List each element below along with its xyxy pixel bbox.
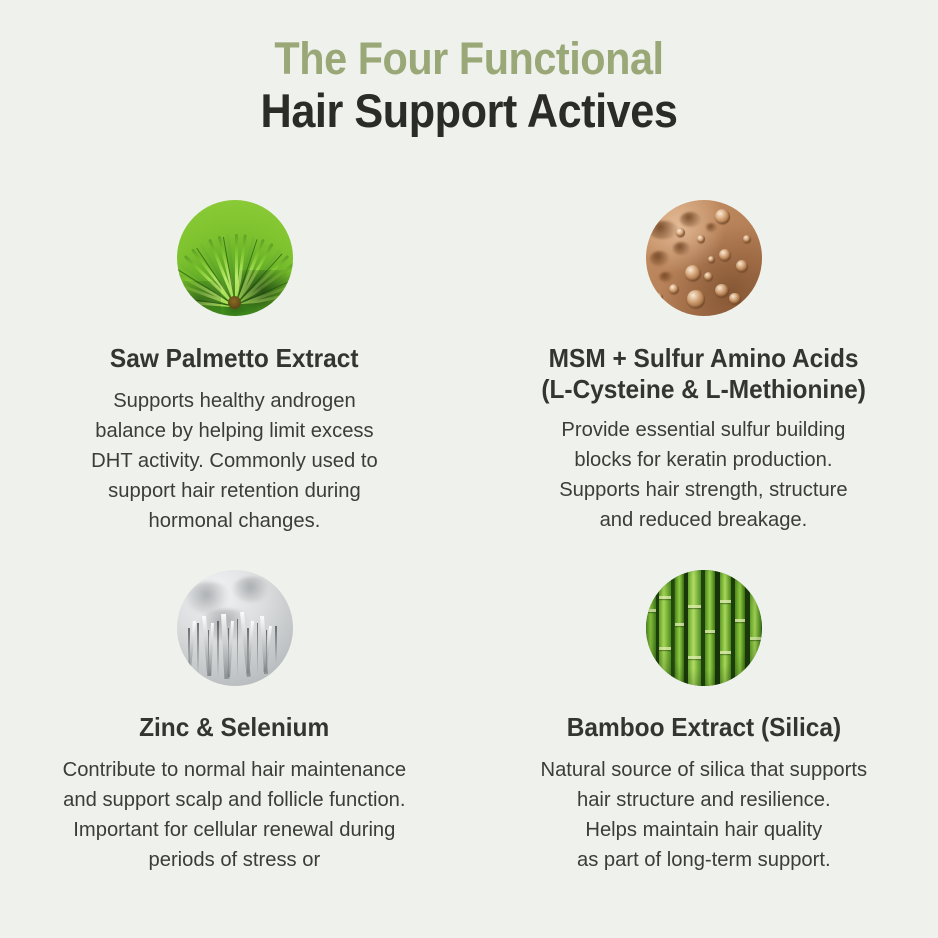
actives-grid: Saw Palmetto Extract Supports healthy an… [0,186,938,926]
bamboo-extract-photo [646,570,762,686]
zinc-selenium-photo [177,570,293,686]
bamboo-stalks-illustration [646,570,762,686]
palm-frond-illustration [177,200,293,316]
page-title: The Four Functional Hair Support Actives [0,0,938,138]
card-body-text: Contribute to normal hair maintenance an… [63,755,406,875]
hair-support-actives-infographic: The Four Functional Hair Support Actives [0,0,938,938]
copper-bubbles-illustration [646,200,762,316]
card-body-text: Provide essential sulfur building blocks… [559,415,847,535]
card-body-text: Supports healthy androgen balance by hel… [91,386,378,536]
active-card-zinc-selenium: Zinc & Selenium Contribute to normal hai… [0,556,469,926]
saw-palmetto-photo [177,200,293,316]
card-heading: MSM + Sulfur Amino Acids (L-Cysteine & L… [541,343,866,405]
card-heading: Bamboo Extract (Silica) [566,712,840,743]
title-line-primary: The Four Functional [38,34,901,84]
active-card-msm-sulfur: MSM + Sulfur Amino Acids (L-Cysteine & L… [469,186,938,556]
mineral-crystal-illustration [177,570,293,686]
title-line-secondary: Hair Support Actives [38,84,901,138]
active-card-saw-palmetto: Saw Palmetto Extract Supports healthy an… [0,186,469,556]
card-body-text: Natural source of silica that supports h… [540,755,867,875]
active-card-bamboo-extract: Bamboo Extract (Silica) Natural source o… [469,556,938,926]
msm-sulfur-photo [646,200,762,316]
card-heading: Saw Palmetto Extract [110,343,359,374]
card-heading: Zinc & Selenium [139,712,329,743]
